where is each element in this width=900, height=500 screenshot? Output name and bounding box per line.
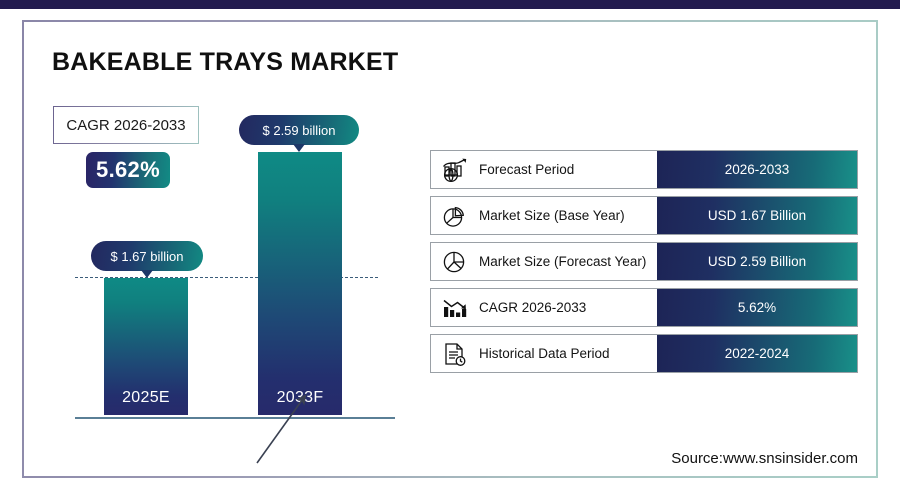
table-row: Market Size (Forecast Year) USD 2.59 Bil…: [430, 242, 858, 281]
document-clock-icon: [431, 335, 479, 372]
table-row-label: Market Size (Forecast Year): [479, 243, 657, 280]
infographic-canvas: BAKEABLE TRAYS MARKET CAGR 2026-2033 5.6…: [0, 0, 900, 500]
table-row-label: CAGR 2026-2033: [479, 289, 657, 326]
table-row: Market Size (Base Year) USD 1.67 Billion: [430, 196, 858, 235]
bar-2025e: 2025E: [104, 278, 188, 415]
table-row: CAGR 2026-2033 5.62%: [430, 288, 858, 327]
table-row-value-text: 2026-2033: [725, 162, 790, 177]
chart-baseline-axis: [75, 417, 395, 419]
table-row-label: Historical Data Period: [479, 335, 657, 372]
bar-label-2025e: 2025E: [104, 389, 188, 407]
value-pill-2033f-text: $ 2.59 billion: [263, 123, 336, 138]
table-row-label: Forecast Period: [479, 151, 657, 188]
table-row-value: 5.62%: [657, 289, 857, 326]
metrics-table: Forecast Period 2026-2033 Market Size (B…: [430, 150, 858, 380]
table-row-value: 2022-2024: [657, 335, 857, 372]
table-row-value-text: USD 1.67 Billion: [708, 208, 806, 223]
pie-chart-exploded-icon: [431, 197, 479, 234]
table-row: Historical Data Period 2022-2024: [430, 334, 858, 373]
page-title: BAKEABLE TRAYS MARKET: [52, 48, 398, 77]
table-row-label: Market Size (Base Year): [479, 197, 657, 234]
table-row: Forecast Period 2026-2033: [430, 150, 858, 189]
table-row-value-text: USD 2.59 Billion: [708, 254, 806, 269]
table-row-value-text: 5.62%: [738, 300, 776, 315]
pie-chart-segments-icon: [431, 243, 479, 280]
globe-growth-chart-icon: [431, 151, 479, 188]
top-accent-bar: [0, 0, 900, 9]
bar-chart-declining-icon: [431, 289, 479, 326]
table-row-value-text: 2022-2024: [725, 346, 790, 361]
growth-arrow-icon: [248, 383, 320, 471]
source-attribution: Source:www.snsinsider.com: [671, 450, 858, 467]
value-pill-2025e: $ 1.67 billion: [91, 241, 203, 271]
table-row-value: USD 2.59 Billion: [657, 243, 857, 280]
value-pill-2025e-text: $ 1.67 billion: [111, 249, 184, 264]
value-pill-2033f: $ 2.59 billion: [239, 115, 359, 145]
table-row-value: USD 1.67 Billion: [657, 197, 857, 234]
table-row-value: 2026-2033: [657, 151, 857, 188]
bar-2033f: 2033F: [258, 152, 342, 415]
